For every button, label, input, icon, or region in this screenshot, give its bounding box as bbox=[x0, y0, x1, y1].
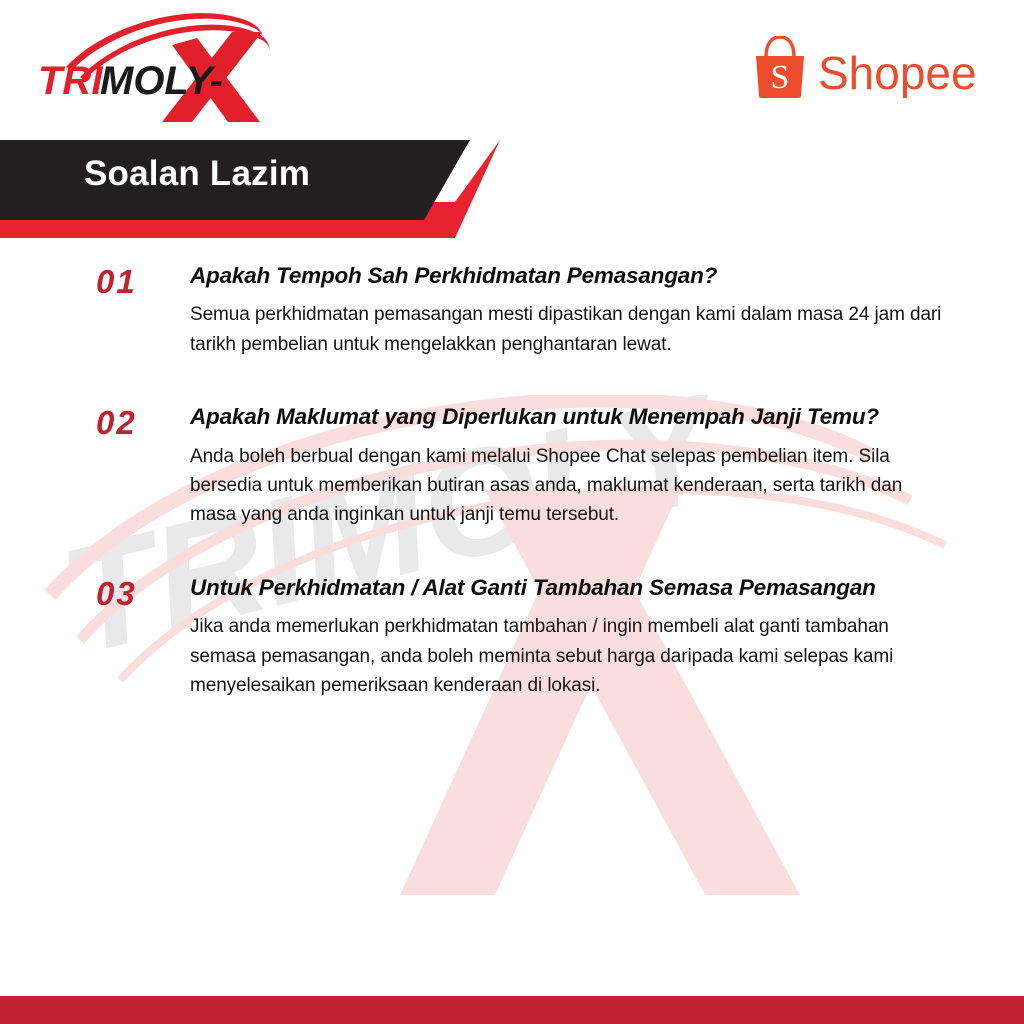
logo-text-moly: MOLY- bbox=[100, 59, 223, 103]
logo-text-tri: TRI bbox=[38, 59, 103, 103]
shopee-logo: S Shopee bbox=[752, 36, 992, 98]
faq-number-badge: 02 bbox=[96, 407, 176, 439]
faq-item: 03 Untuk Perkhidmatan / Alat Ganti Tamba… bbox=[0, 574, 1024, 701]
faq-number-badge: 03 bbox=[96, 578, 176, 610]
shopee-bag-icon: S bbox=[756, 37, 804, 98]
faq-number-badge: 01 bbox=[96, 266, 176, 298]
trimoly-x-logo: TRI MOLY- bbox=[22, 10, 284, 122]
faq-number-text: 01 bbox=[96, 266, 137, 298]
faq-item: 02 Apakah Maklumat yang Diperlukan untuk… bbox=[0, 403, 1024, 530]
footer-bar bbox=[0, 996, 1024, 1024]
faq-infographic-page: TRIMOLY TRI MOLY- bbox=[0, 0, 1024, 1024]
faq-number-text: 02 bbox=[96, 407, 137, 439]
faq-answer: Jika anda memerlukan perkhidmatan tambah… bbox=[190, 612, 944, 700]
faq-item: 01 Apakah Tempoh Sah Perkhidmatan Pemasa… bbox=[0, 262, 1024, 359]
faq-answer: Anda boleh berbual dengan kami melalui S… bbox=[190, 442, 944, 530]
faq-content: Apakah Tempoh Sah Perkhidmatan Pemasanga… bbox=[100, 262, 1024, 359]
faq-content: Apakah Maklumat yang Diperlukan untuk Me… bbox=[100, 403, 1024, 530]
faq-question: Untuk Perkhidmatan / Alat Ganti Tambahan… bbox=[190, 574, 944, 602]
faq-question: Apakah Tempoh Sah Perkhidmatan Pemasanga… bbox=[190, 262, 944, 290]
faq-answer: Semua perkhidmatan pemasangan mesti dipa… bbox=[190, 300, 944, 359]
shopee-bag-letter: S bbox=[771, 59, 790, 96]
page-header: TRI MOLY- S Shopee bbox=[0, 0, 1024, 135]
faq-number-text: 03 bbox=[96, 578, 137, 610]
shopee-wordmark: Shopee bbox=[818, 47, 977, 98]
section-banner: Soalan Lazim bbox=[0, 140, 1024, 240]
faq-list: 01 Apakah Tempoh Sah Perkhidmatan Pemasa… bbox=[0, 262, 1024, 725]
page-title: Soalan Lazim bbox=[84, 154, 310, 194]
faq-question: Apakah Maklumat yang Diperlukan untuk Me… bbox=[190, 403, 944, 431]
faq-content: Untuk Perkhidmatan / Alat Ganti Tambahan… bbox=[100, 574, 1024, 701]
